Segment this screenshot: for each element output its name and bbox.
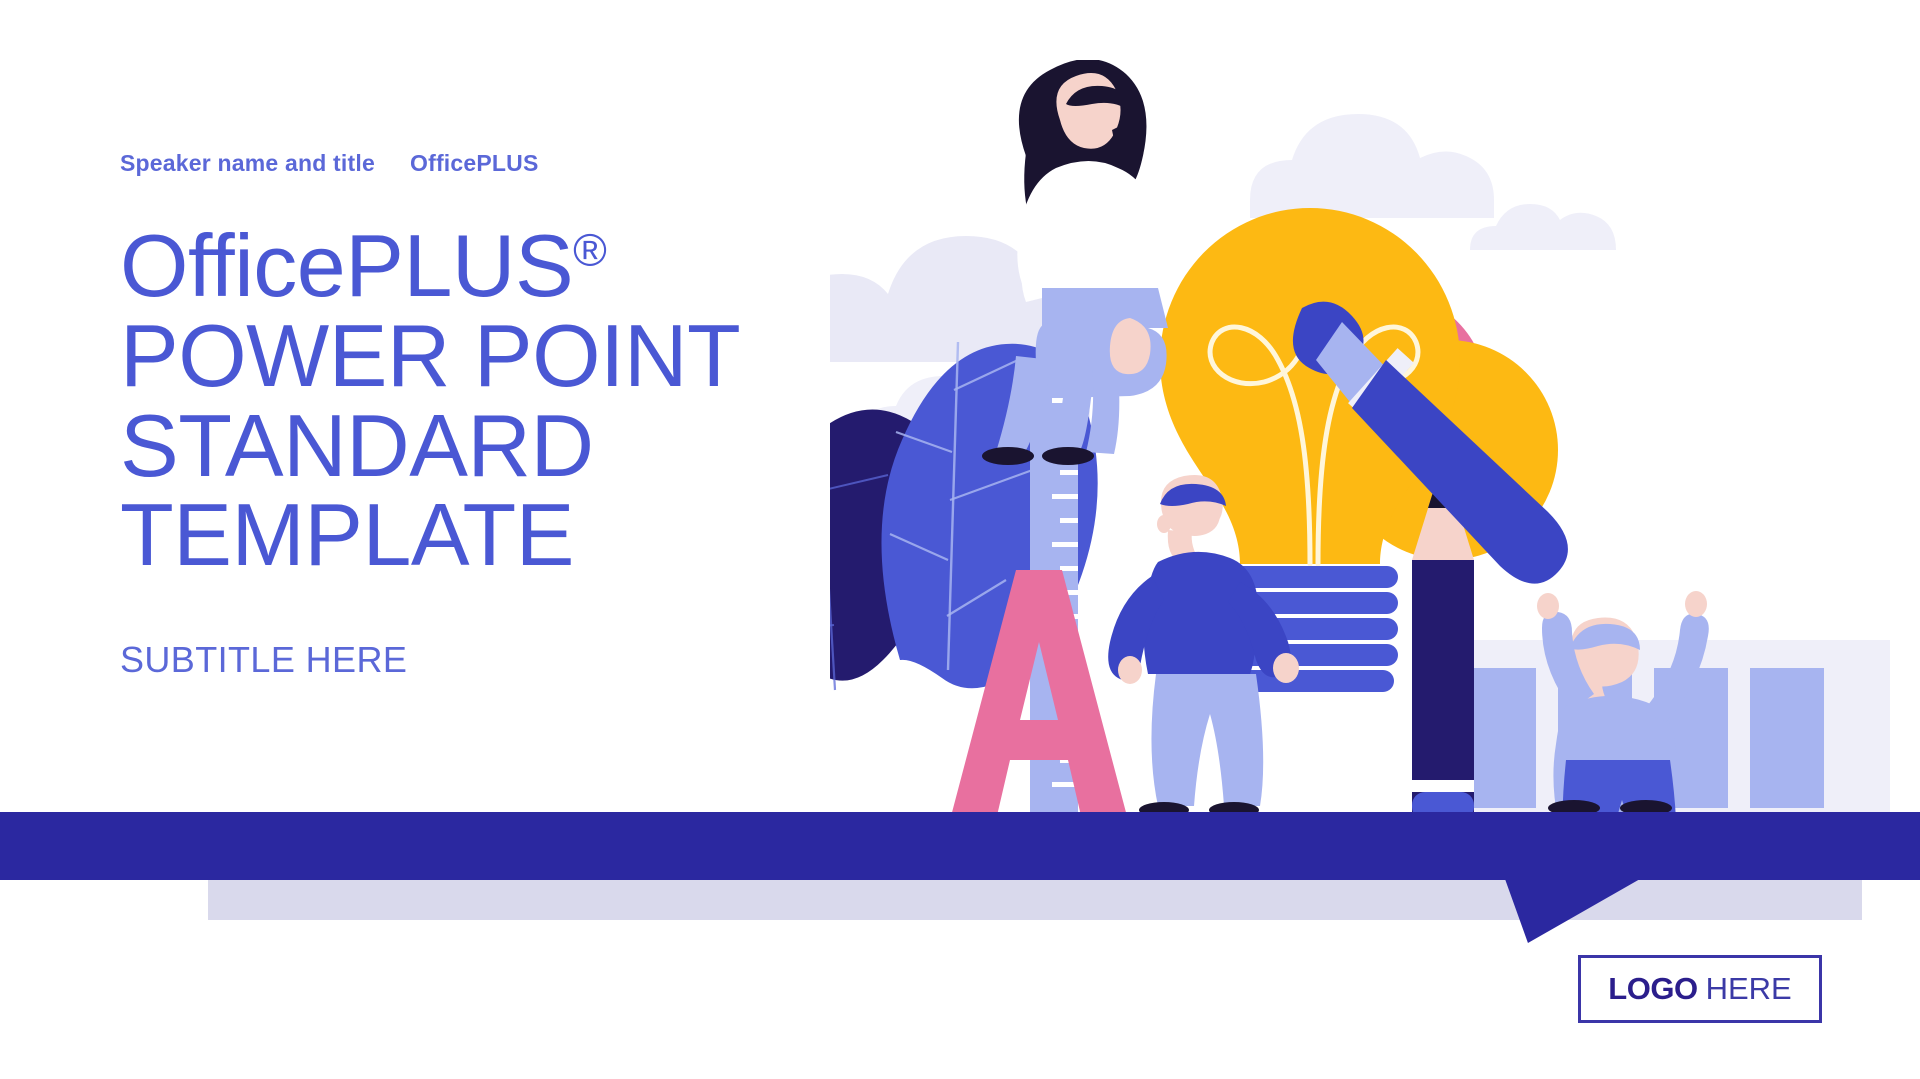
logo-word: LOGO [1608, 971, 1697, 1007]
subtitle: SUBTITLE HERE [120, 639, 860, 681]
footer-ribbon [0, 812, 1920, 880]
title-line-1-text: OfficePLUS [120, 216, 573, 315]
speaker-name-label: Speaker name and title [120, 150, 410, 177]
brand-label: OfficePLUS [410, 150, 539, 177]
page-title: OfficePLUS® POWER POINT STANDARD TEMPLAT… [120, 221, 860, 580]
title-line-2: POWER POINT [120, 311, 860, 401]
logo-here-word: HERE [1706, 971, 1792, 1007]
teamwork-lightbulb-illustration [830, 60, 1920, 820]
title-block: Speaker name and title OfficePLUS Office… [120, 150, 860, 681]
presentation-slide: Speaker name and title OfficePLUS Office… [0, 0, 1920, 1079]
eyebrow-row: Speaker name and title OfficePLUS [120, 150, 860, 177]
logo-placeholder[interactable]: LOGO HERE [1578, 955, 1822, 1023]
title-line-1: OfficePLUS® [120, 221, 860, 311]
title-line-4: TEMPLATE [120, 490, 860, 580]
title-line-3: STANDARD [120, 401, 860, 491]
registered-trademark-icon: ® [573, 225, 606, 276]
